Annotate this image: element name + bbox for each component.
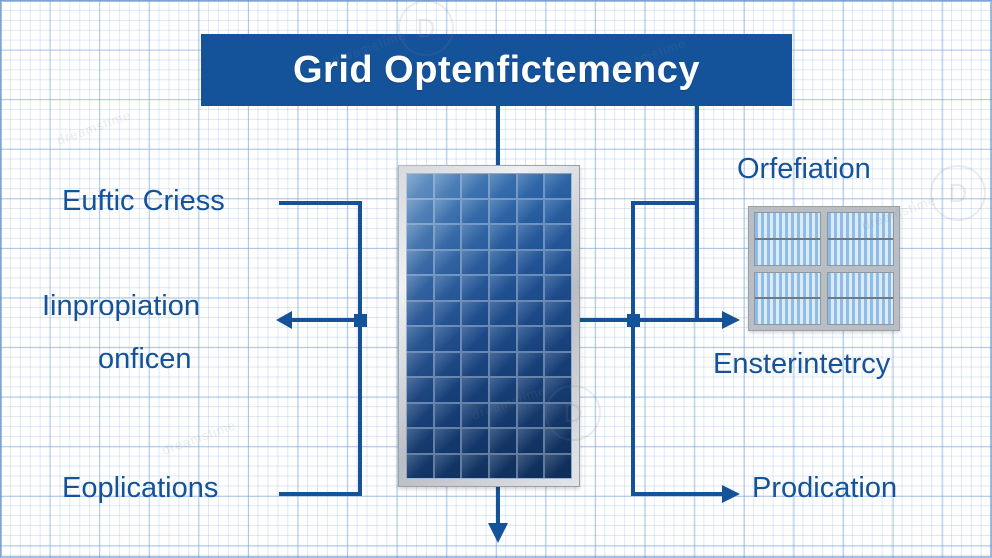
mini-panel xyxy=(827,212,894,266)
diagram-canvas: Grid Optenfictemency Euftic Criess Iinpr… xyxy=(0,0,992,558)
mini-panel xyxy=(827,272,894,326)
solar-cell xyxy=(490,302,516,326)
solar-cell xyxy=(545,353,571,377)
solar-cell xyxy=(490,251,516,275)
label-prodication: Prodication xyxy=(752,472,897,504)
solar-cell xyxy=(518,378,544,402)
solar-cell xyxy=(518,327,544,351)
solar-cell xyxy=(462,429,488,453)
solar-cell xyxy=(435,225,461,249)
solar-cell xyxy=(518,429,544,453)
solar-cell xyxy=(407,455,433,479)
solar-cell xyxy=(435,353,461,377)
solar-cell xyxy=(462,353,488,377)
solar-cell xyxy=(518,276,544,300)
label-iinpropiation: Iinpropiation xyxy=(42,290,200,322)
solar-cell xyxy=(518,225,544,249)
solar-cell xyxy=(490,429,516,453)
solar-cell xyxy=(462,404,488,428)
solar-cell xyxy=(407,174,433,198)
solar-cell xyxy=(435,251,461,275)
solar-cell xyxy=(407,302,433,326)
solar-cell xyxy=(518,455,544,479)
solar-cell xyxy=(407,429,433,453)
solar-cell xyxy=(407,327,433,351)
solar-cell xyxy=(518,302,544,326)
solar-cell xyxy=(518,404,544,428)
solar-cell xyxy=(545,174,571,198)
solar-cell xyxy=(462,455,488,479)
mini-panel xyxy=(754,212,821,266)
solar-cell xyxy=(490,200,516,224)
solar-cell xyxy=(545,200,571,224)
solar-cell xyxy=(518,251,544,275)
solar-cell xyxy=(490,353,516,377)
solar-cell xyxy=(435,327,461,351)
solar-cell xyxy=(462,225,488,249)
solar-cell xyxy=(462,200,488,224)
solar-cell xyxy=(462,174,488,198)
mini-panel xyxy=(754,272,821,326)
solar-cell xyxy=(545,404,571,428)
mini-panel-cluster xyxy=(748,206,900,331)
solar-cell xyxy=(462,302,488,326)
solar-cell xyxy=(518,174,544,198)
label-eoplications: Eoplications xyxy=(62,472,218,504)
solar-cell xyxy=(435,378,461,402)
solar-cell xyxy=(545,327,571,351)
solar-cell xyxy=(407,200,433,224)
page-title: Grid Optenfictemency xyxy=(293,49,700,92)
solar-cell xyxy=(435,429,461,453)
solar-cell xyxy=(462,251,488,275)
solar-cell xyxy=(407,251,433,275)
label-orfefiation: Orfefiation xyxy=(737,153,871,185)
solar-cell xyxy=(435,404,461,428)
solar-cell xyxy=(407,404,433,428)
solar-cell xyxy=(490,225,516,249)
diagram-title-banner: Grid Optenfictemency xyxy=(201,34,792,106)
solar-cell xyxy=(545,251,571,275)
solar-cell xyxy=(490,404,516,428)
solar-cell xyxy=(407,353,433,377)
label-euftic-criess: Euftic Criess xyxy=(62,185,225,217)
solar-panel-cell-grid xyxy=(406,173,572,479)
solar-panel xyxy=(398,165,580,487)
solar-cell xyxy=(407,378,433,402)
solar-cell xyxy=(435,302,461,326)
solar-cell xyxy=(490,174,516,198)
solar-cell xyxy=(435,174,461,198)
solar-cell xyxy=(545,225,571,249)
label-ensterintetrcy: Ensterintetrcy xyxy=(713,348,890,380)
solar-cell xyxy=(490,276,516,300)
solar-cell xyxy=(518,200,544,224)
solar-cell xyxy=(518,353,544,377)
solar-cell xyxy=(490,327,516,351)
label-onficen: onficen xyxy=(98,343,192,375)
solar-cell xyxy=(545,455,571,479)
solar-cell xyxy=(435,200,461,224)
solar-cell xyxy=(545,276,571,300)
solar-cell xyxy=(545,302,571,326)
solar-cell xyxy=(407,225,433,249)
solar-cell xyxy=(490,378,516,402)
solar-cell xyxy=(407,276,433,300)
solar-cell xyxy=(435,455,461,479)
solar-cell xyxy=(462,327,488,351)
solar-cell xyxy=(490,455,516,479)
solar-cell xyxy=(462,276,488,300)
solar-cell xyxy=(462,378,488,402)
solar-cell xyxy=(435,276,461,300)
solar-cell xyxy=(545,378,571,402)
solar-cell xyxy=(545,429,571,453)
